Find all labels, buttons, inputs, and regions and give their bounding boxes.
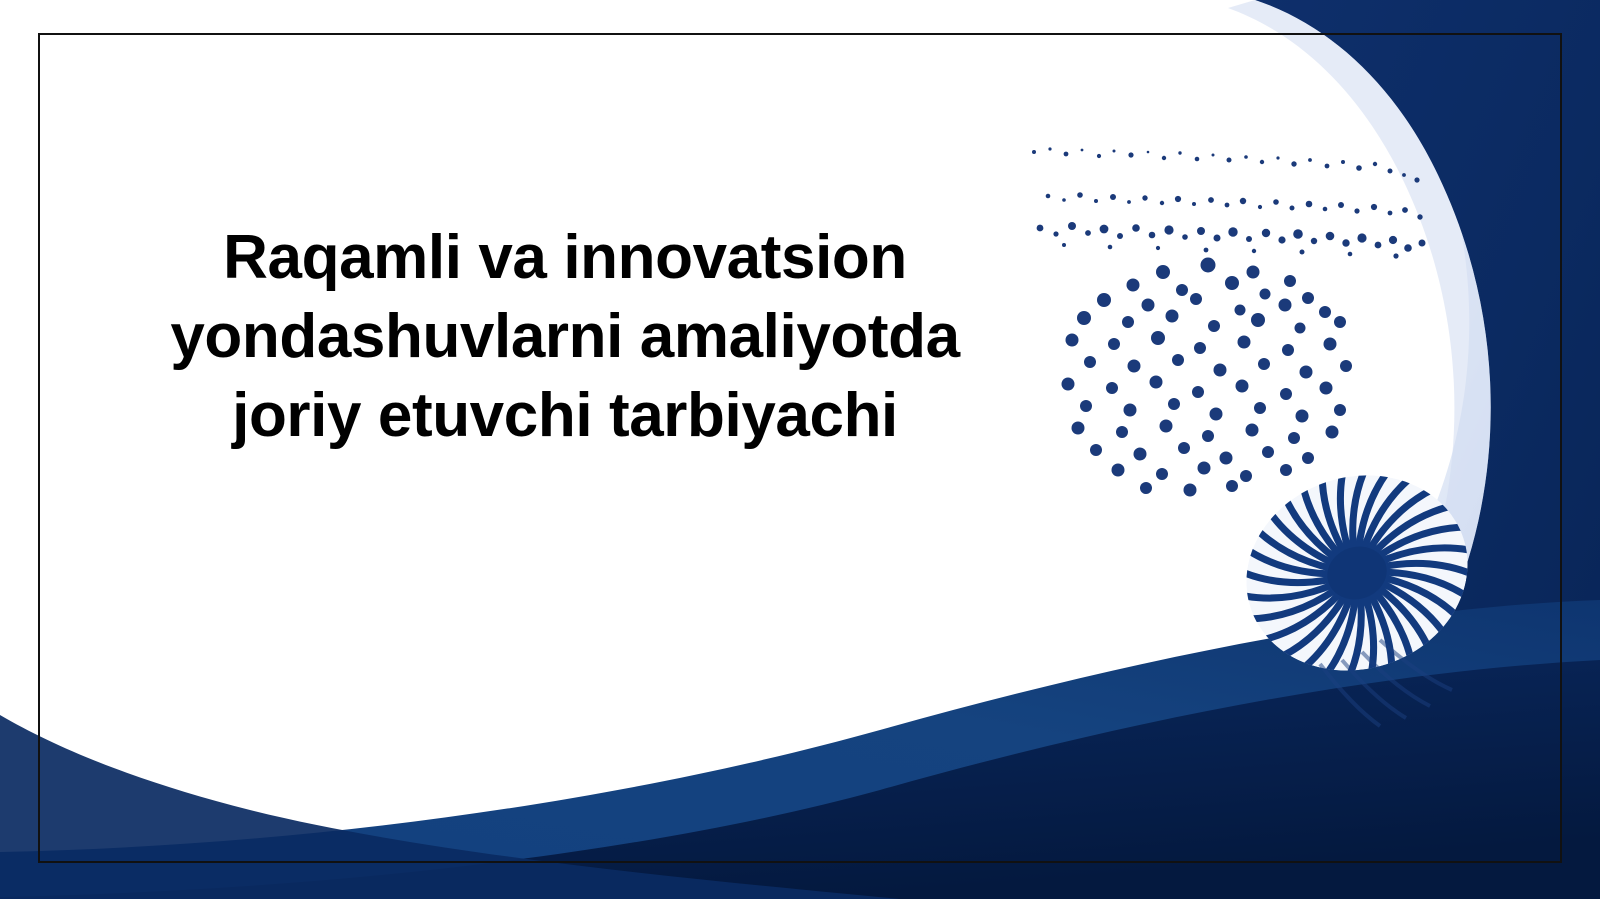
title-line-3: joriy etuvchi tarbiyachi: [60, 376, 1070, 455]
page-title: Raqamli va innovatsion yondashuvlarni am…: [60, 218, 1070, 455]
scattered-dot-bands: [1032, 147, 1426, 258]
presentation-slide: Raqamli va innovatsion yondashuvlarni am…: [0, 0, 1600, 899]
scattered-dot-cluster: [1062, 258, 1353, 497]
title-line-2: yondashuvlarni amaliyotda: [60, 297, 1070, 376]
title-line-1: Raqamli va innovatsion: [60, 218, 1070, 297]
